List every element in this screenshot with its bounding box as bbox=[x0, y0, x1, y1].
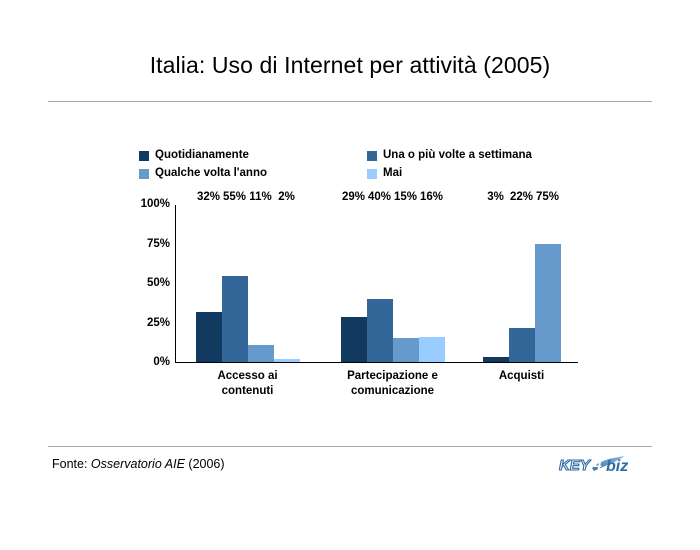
source-year: (2006) bbox=[185, 457, 225, 471]
bar-group-acquisti: 3% 22% 75% bbox=[465, 205, 578, 362]
key4biz-logo[interactable]: KEY 4 biz bbox=[559, 454, 645, 476]
source-note: Fonte: Osservatorio AIE (2006) bbox=[52, 457, 225, 471]
y-tick-100: 100% bbox=[124, 199, 170, 211]
x-axis-category-labels: Accesso ai contenuti Partecipazione e co… bbox=[175, 369, 578, 399]
legend-swatch-anno bbox=[139, 169, 149, 179]
bar-value-label: 32% bbox=[197, 192, 220, 204]
y-tick-50: 50% bbox=[124, 278, 170, 290]
bar-value-label: 75% bbox=[536, 192, 559, 204]
bar-value-label: 15% bbox=[394, 192, 417, 204]
bar-item-accesso-quotidianamente[interactable]: 32% bbox=[196, 205, 222, 362]
bar-value-label: 29% bbox=[342, 192, 365, 204]
bar-rect bbox=[341, 317, 367, 363]
bar-item-partecipazione-mai[interactable]: 16% bbox=[419, 205, 445, 362]
bar-rect bbox=[483, 357, 509, 362]
key4biz-logo-graphic: KEY 4 biz bbox=[559, 454, 645, 476]
legend-item-mai[interactable]: Mai bbox=[367, 168, 567, 180]
bar-rect bbox=[367, 299, 393, 362]
page-title: Italia: Uso di Internet per attività (20… bbox=[0, 52, 700, 79]
bar-rect bbox=[509, 328, 535, 363]
legend-swatch-mai bbox=[367, 169, 377, 179]
y-tick-25: 25% bbox=[124, 318, 170, 330]
legend-label-mai: Mai bbox=[383, 168, 402, 180]
bar-item-partecipazione-settimana[interactable]: 40% bbox=[367, 205, 393, 362]
footer-divider bbox=[48, 446, 652, 447]
legend-label-anno: Qualche volta l'anno bbox=[155, 168, 267, 180]
x-category-partecipazione: Partecipazione e comunicazione bbox=[320, 369, 465, 399]
legend-item-anno[interactable]: Qualche volta l'anno bbox=[139, 168, 367, 180]
bar-item-partecipazione-quotidianamente[interactable]: 29% bbox=[341, 205, 367, 362]
slide-canvas: Italia: Uso di Internet per attività (20… bbox=[0, 0, 700, 550]
legend-label-quotidianamente: Quotidianamente bbox=[155, 150, 249, 162]
bar-item-partecipazione-anno[interactable]: 15% bbox=[393, 205, 419, 362]
bar-group-accesso: 32% 55% 11% 2% bbox=[175, 205, 320, 362]
bar-value-label: 11% bbox=[249, 192, 271, 204]
logo-biz-text: biz bbox=[606, 458, 628, 475]
legend-item-quotidianamente[interactable]: Quotidianamente bbox=[139, 150, 367, 162]
x-category-accesso: Accesso ai contenuti bbox=[175, 369, 320, 399]
logo-four-text: 4 bbox=[593, 456, 602, 472]
bar-value-label: 16% bbox=[420, 192, 443, 204]
bar-value-label: 2% bbox=[278, 192, 295, 204]
logo-key-text: KEY bbox=[559, 457, 592, 474]
x-category-acquisti: Acquisti bbox=[465, 369, 578, 399]
bar-item-accesso-mai[interactable]: 2% bbox=[274, 205, 300, 362]
bar-value-label: 55% bbox=[223, 192, 246, 204]
y-axis-labels: 100% 75% 50% 25% 0% bbox=[122, 205, 170, 363]
bar-item-acquisti-settimana[interactable]: 22% bbox=[509, 205, 535, 362]
bar-rect bbox=[248, 345, 274, 362]
chart-plot-area: 32% 55% 11% 2% 29% 40% bbox=[175, 205, 578, 362]
chart-legend: Quotidianamente Una o più volte a settim… bbox=[139, 147, 559, 183]
legend-swatch-quotidianamente bbox=[139, 151, 149, 161]
bar-item-acquisti-anno[interactable]: 75% bbox=[535, 205, 561, 362]
source-name: Osservatorio AIE bbox=[91, 457, 185, 471]
y-tick-75: 75% bbox=[124, 239, 170, 251]
bar-rect bbox=[274, 359, 300, 362]
bar-item-accesso-anno[interactable]: 11% bbox=[248, 205, 274, 362]
bar-item-accesso-settimana[interactable]: 55% bbox=[222, 205, 248, 362]
source-prefix: Fonte: bbox=[52, 457, 91, 471]
legend-item-settimana[interactable]: Una o più volte a settimana bbox=[367, 150, 567, 162]
legend-swatch-settimana bbox=[367, 151, 377, 161]
bar-rect bbox=[196, 312, 222, 362]
y-tick-0: 0% bbox=[124, 357, 170, 369]
bar-rect bbox=[419, 337, 445, 362]
bar-value-label: 22% bbox=[510, 192, 533, 204]
bar-item-acquisti-quotidianamente[interactable]: 3% bbox=[483, 205, 509, 362]
legend-label-settimana: Una o più volte a settimana bbox=[383, 150, 532, 162]
bar-rect bbox=[535, 244, 561, 362]
title-divider bbox=[48, 101, 652, 102]
bar-group-partecipazione: 29% 40% 15% 16% bbox=[320, 205, 465, 362]
x-axis-line bbox=[175, 362, 578, 363]
bar-rect bbox=[393, 338, 419, 362]
bar-value-label: 40% bbox=[368, 192, 391, 204]
bar-value-label: 3% bbox=[487, 192, 504, 204]
bar-rect bbox=[222, 276, 248, 362]
